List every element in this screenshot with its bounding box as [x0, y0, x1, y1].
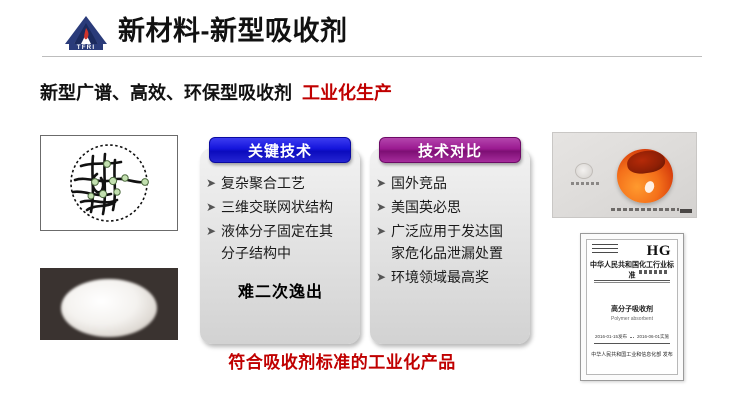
- crosslinked-network-diagram: [40, 135, 178, 231]
- list-item-label: 液体分子固定在其 分子结构中: [221, 220, 355, 264]
- list-item-label: 美国英必思: [391, 196, 525, 218]
- document-badge: HG: [647, 243, 671, 260]
- gel-reference-swatch: [575, 163, 593, 179]
- list-item: ➤ 三维交联网状结构: [206, 196, 355, 218]
- list-item-label: 广泛应用于发达国 家危化品泄漏处置: [391, 220, 525, 264]
- chemical-industry-standard-cover: HG 中华人民共和国化工行业标准 高分子吸收剂 Polymer absorben…: [580, 233, 684, 381]
- document-subcode-block: [639, 270, 669, 274]
- list-item: ➤ 广泛应用于发达国 家危化品泄漏处置: [376, 220, 525, 264]
- svg-text:TFRI: TFRI: [77, 44, 96, 51]
- panel-key-tech-body: ➤ 复杂聚合工艺 ➤ 三维交联网状结构 ➤ 液体分子固定在其 分子结构中 难二次…: [200, 172, 360, 302]
- document-code-block: [592, 244, 618, 255]
- bullet-arrow-icon: ➤: [376, 196, 391, 218]
- gel-photo-caption: [611, 208, 679, 211]
- slide-canvas: TFRI 新材料-新型吸收剂 新型广谱、高效、环保型吸收剂工业化生产: [0, 0, 744, 419]
- bullet-arrow-icon: ➤: [376, 220, 391, 242]
- bullet-arrow-icon: ➤: [206, 220, 221, 242]
- red-caption: 符合吸收剂标准的工业化产品: [197, 348, 487, 373]
- tfri-logo: TFRI: [60, 14, 112, 52]
- panel-comparison-header: 技术对比: [379, 137, 521, 163]
- bullet-arrow-icon: ➤: [376, 172, 391, 194]
- panel-key-tech-emphasis: 难二次逸出: [206, 278, 355, 302]
- document-dates: 2016-01-15发布 2016-06-01实施: [595, 334, 669, 340]
- list-item-label: 复杂聚合工艺: [221, 172, 355, 194]
- list-item-line2: 家危化品泄漏处置: [391, 242, 525, 264]
- orange-gel-sample-photo: [552, 132, 697, 218]
- bullet-arrow-icon: ➤: [206, 196, 221, 218]
- panel-comparison-body: ➤ 国外竞品 ➤ 美国英必思 ➤ 广泛应用于发达国 家危化品泄漏处置 ➤ 环境领…: [370, 172, 530, 290]
- list-item-label: 三维交联网状结构: [221, 196, 355, 218]
- subtitle-main: 新型广谱、高效、环保型吸收剂: [40, 83, 292, 103]
- document-title: 高分子吸收剂: [587, 304, 677, 314]
- subtitle-accent: 工业化生产: [302, 83, 392, 103]
- page-title: 新材料-新型吸收剂: [118, 13, 348, 49]
- gel-swatch-caption: [571, 182, 599, 185]
- panel-key-tech: 关键技术 ➤ 复杂聚合工艺 ➤ 三维交联网状结构 ➤ 液体分子固定在其 分子结构…: [200, 148, 360, 344]
- document-subtitle: Polymer absorbent: [587, 316, 677, 322]
- list-item: ➤ 液体分子固定在其 分子结构中: [206, 220, 355, 264]
- list-item-label: 国外竞品: [391, 172, 525, 194]
- list-item: ➤ 国外竞品: [376, 172, 525, 194]
- document-issue-date: 2016-01-15发布: [595, 334, 627, 340]
- gel-photo-corner-mark: [680, 209, 692, 213]
- document-effective-date: 2016-06-01实施: [637, 334, 669, 340]
- list-item-line1: 广泛应用于发达国: [391, 223, 503, 239]
- panel-key-tech-header: 关键技术: [209, 137, 351, 163]
- list-item: ➤ 环境领域最高奖: [376, 266, 525, 288]
- powder-pile: [61, 279, 157, 337]
- panel-comparison: 技术对比 ➤ 国外竞品 ➤ 美国英必思 ➤ 广泛应用于发达国 家危化品泄漏处置 …: [370, 148, 530, 344]
- document-rule-top-thin: [594, 282, 670, 283]
- list-item-line1: 液体分子固定在其: [221, 223, 333, 239]
- document-publisher: 中华人民共和国工业和信息化部 发布: [587, 351, 677, 358]
- bullet-arrow-icon: ➤: [206, 172, 221, 194]
- list-item: ➤ 复杂聚合工艺: [206, 172, 355, 194]
- list-item-label: 环境领域最高奖: [391, 266, 525, 288]
- list-item-line2: 分子结构中: [221, 242, 355, 264]
- list-item: ➤ 美国英必思: [376, 196, 525, 218]
- document-inner-border: HG 中华人民共和国化工行业标准 高分子吸收剂 Polymer absorben…: [586, 239, 678, 375]
- white-powder-photo: [40, 268, 178, 340]
- document-date-dotfill: [630, 334, 634, 338]
- title-divider: [42, 56, 702, 57]
- document-rule-bottom: [594, 343, 670, 344]
- subtitle-line: 新型广谱、高效、环保型吸收剂工业化生产: [40, 80, 392, 106]
- bullet-arrow-icon: ➤: [376, 266, 391, 288]
- document-rule-top: [594, 280, 670, 281]
